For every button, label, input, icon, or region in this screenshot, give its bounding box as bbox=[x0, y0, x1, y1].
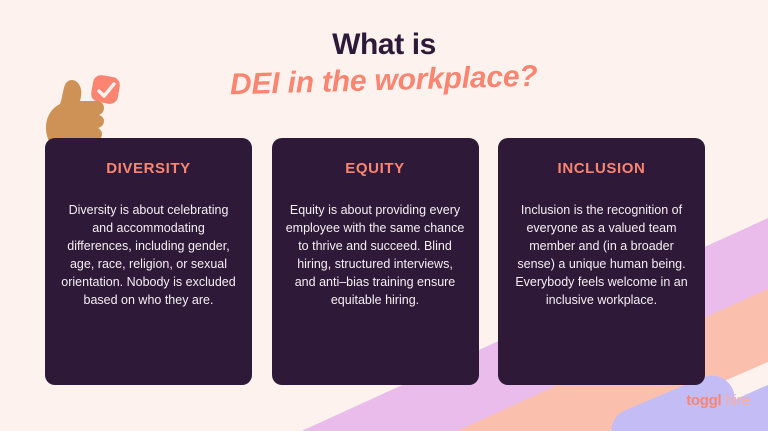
card-title-equity: EQUITY bbox=[345, 160, 404, 177]
card-body-diversity: Diversity is about celebrating and accom… bbox=[59, 201, 238, 309]
logo-secondary-text: hire bbox=[725, 392, 750, 409]
definition-cards: DIVERSITY Diversity is about celebrating… bbox=[45, 138, 705, 385]
card-equity: EQUITY Equity is about providing every e… bbox=[272, 138, 479, 385]
card-body-inclusion: Inclusion is the recognition of everyone… bbox=[512, 201, 691, 309]
card-title-inclusion: INCLUSION bbox=[558, 160, 646, 177]
page-title-line-1: What is bbox=[0, 28, 768, 62]
toggl-hire-logo: toggl hire bbox=[686, 392, 750, 409]
page-title-line-2: DEI in the workplace? bbox=[230, 58, 538, 105]
card-inclusion: INCLUSION Inclusion is the recognition o… bbox=[498, 138, 705, 385]
card-body-equity: Equity is about providing every employee… bbox=[286, 201, 465, 309]
card-diversity: DIVERSITY Diversity is about celebrating… bbox=[45, 138, 252, 385]
card-title-diversity: DIVERSITY bbox=[106, 160, 191, 177]
page-title: What is DEI in the workplace? bbox=[0, 28, 768, 100]
infographic-canvas: What is DEI in the workplace? DIVERSITY … bbox=[0, 0, 768, 431]
logo-primary-text: toggl bbox=[686, 392, 721, 409]
